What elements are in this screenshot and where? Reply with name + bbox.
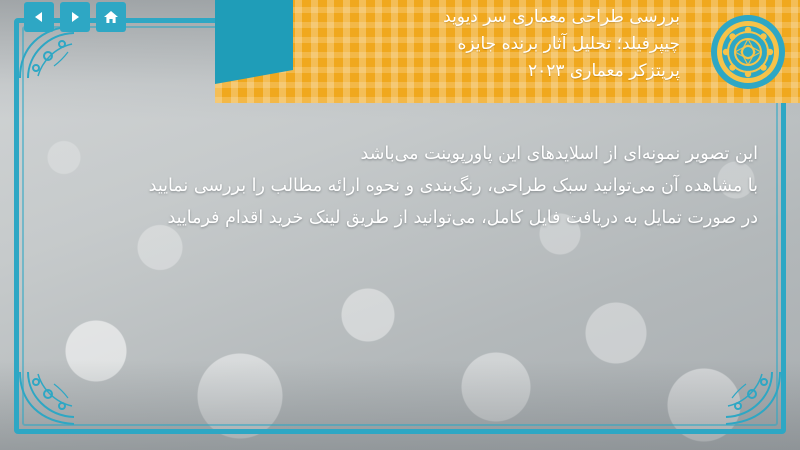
home-button[interactable] (96, 2, 126, 32)
banner-title-line-2: چیپرفیلد؛ تحلیل آثار برنده جایزه (250, 31, 680, 58)
next-slide-button[interactable] (60, 2, 90, 32)
chevron-right-icon (68, 10, 82, 24)
slide-canvas: بررسی طراحی معماری سر دیوید چیپرفیلد؛ تح… (0, 0, 800, 450)
chevron-left-icon (32, 10, 46, 24)
navigation-controls[interactable] (24, 2, 126, 32)
ornamental-medallion-icon (710, 14, 786, 90)
banner-title-line-1: بررسی طراحی معماری سر دیوید (250, 4, 680, 31)
body-line-3: در صورت تمایل به دریافت فایل کامل، می‌تو… (40, 202, 758, 234)
background-bottom-shade (0, 360, 800, 450)
body-line-1: این تصویر نمونه‌ای از اسلایدهای این پاور… (40, 138, 758, 170)
home-icon (103, 9, 119, 25)
banner-title-line-3: پریتزکر معماری ۲۰۲۳ (250, 58, 680, 85)
slide-body-text: این تصویر نمونه‌ای از اسلایدهای این پاور… (40, 138, 758, 234)
prev-slide-button[interactable] (24, 2, 54, 32)
banner-title: بررسی طراحی معماری سر دیوید چیپرفیلد؛ تح… (250, 4, 680, 85)
body-line-2: با مشاهده آن می‌توانید سبک طراحی، رنگ‌بن… (40, 170, 758, 202)
